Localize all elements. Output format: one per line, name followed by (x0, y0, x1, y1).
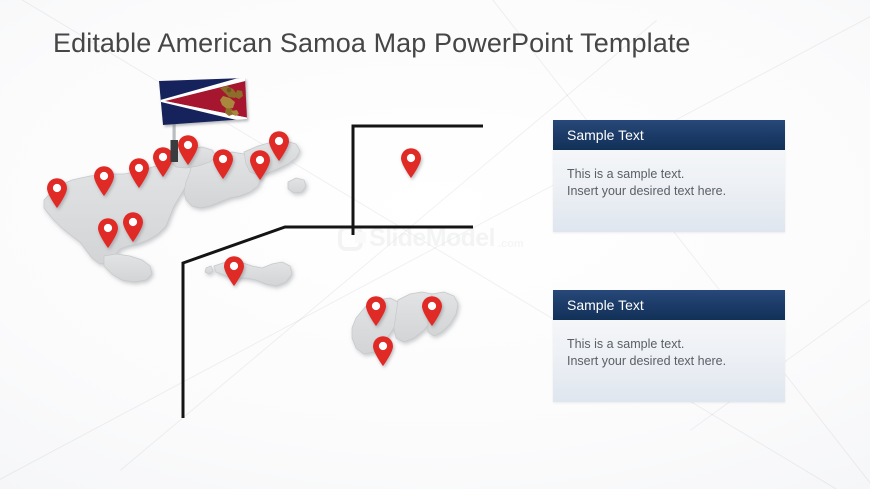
region-tutuila-west (44, 160, 196, 264)
sample-text-panel-2[interactable]: Sample Text This is a sample text. Inser… (553, 290, 785, 402)
flag-cloth (157, 78, 249, 125)
region-aunuu (288, 178, 306, 193)
panel-2-body: This is a sample text. Insert your desir… (553, 320, 785, 402)
panel-2-line-1: This is a sample text. (567, 336, 771, 353)
region-ofu-islet (205, 266, 213, 274)
map-pin-11[interactable] (401, 148, 421, 178)
panel-2-line-2: Insert your desired text here. (567, 353, 771, 370)
sample-text-panel-1[interactable]: Sample Text This is a sample text. Inser… (553, 120, 785, 232)
map-pin-12[interactable] (224, 256, 244, 286)
american-samoa-flag (157, 78, 251, 162)
panel-2-header: Sample Text (553, 290, 785, 320)
map-pin-15[interactable] (373, 336, 393, 366)
american-samoa-map (0, 0, 870, 489)
region-tutuila-south (104, 254, 152, 282)
panel-1-line-2: Insert your desired text here. (567, 183, 771, 200)
slide-canvas: Editable American Samoa Map PowerPoint T… (0, 0, 870, 489)
panel-1-header: Sample Text (553, 120, 785, 150)
panel-1-line-1: This is a sample text. (567, 166, 771, 183)
panel-1-body: This is a sample text. Insert your desir… (553, 150, 785, 232)
